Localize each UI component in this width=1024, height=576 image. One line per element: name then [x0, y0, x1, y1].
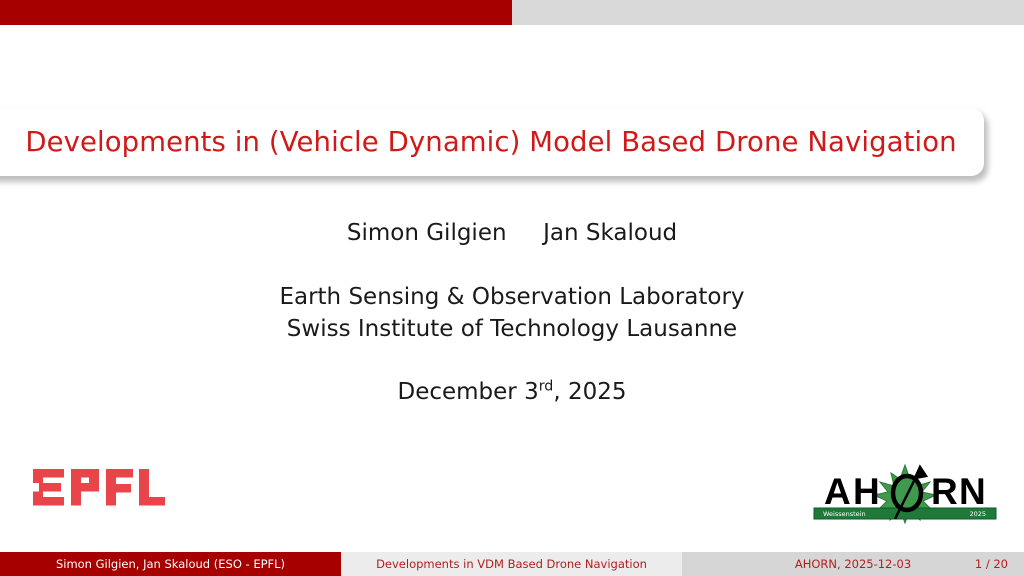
date-main: December 3 [397, 379, 538, 405]
top-bar-red-segment [0, 0, 512, 25]
top-bar-gray-segment [512, 0, 1024, 25]
institute-line-2: Swiss Institute of Technology Lausanne [0, 313, 1024, 345]
title-metadata-block: Simon Gilgien Jan Skaloud Earth Sensing … [0, 218, 1024, 407]
institute-block: Earth Sensing & Observation Laboratory S… [0, 281, 1024, 345]
author-names: Simon Gilgien Jan Skaloud [0, 218, 1024, 248]
ahorn-logo: Weissenstein 2025 A H R N [812, 460, 998, 526]
page-title: Developments in (Vehicle Dynamic) Model … [0, 126, 957, 158]
ahorn-letter-H: H [853, 471, 880, 512]
slide-canvas: Developments in (Vehicle Dynamic) Model … [0, 0, 1024, 576]
date-year: , 2025 [553, 379, 626, 405]
footer-author: Simon Gilgien, Jan Skaloud (ESO - EPFL) [0, 552, 341, 576]
footer-page-number: 1 / 20 [975, 557, 1008, 571]
top-decoration-bar [0, 0, 1024, 25]
footer-short-title: Developments in VDM Based Drone Navigati… [341, 552, 682, 576]
date-ordinal-suffix: rd [539, 378, 554, 394]
title-box: Developments in (Vehicle Dynamic) Model … [0, 108, 984, 176]
ahorn-letter-R: R [931, 471, 958, 512]
slide-footer: Simon Gilgien, Jan Skaloud (ESO - EPFL) … [0, 552, 1024, 576]
ahorn-letter-A: A [824, 471, 851, 512]
footer-right-segment: AHORN, 2025-12-03 1 / 20 [682, 552, 1024, 576]
institute-line-1: Earth Sensing & Observation Laboratory [0, 281, 1024, 313]
footer-venue: AHORN, 2025-12-03 [682, 557, 1024, 571]
epfl-logo [33, 469, 165, 515]
ahorn-letter-N: N [959, 471, 986, 512]
presentation-date: December 3rd, 2025 [0, 377, 1024, 407]
